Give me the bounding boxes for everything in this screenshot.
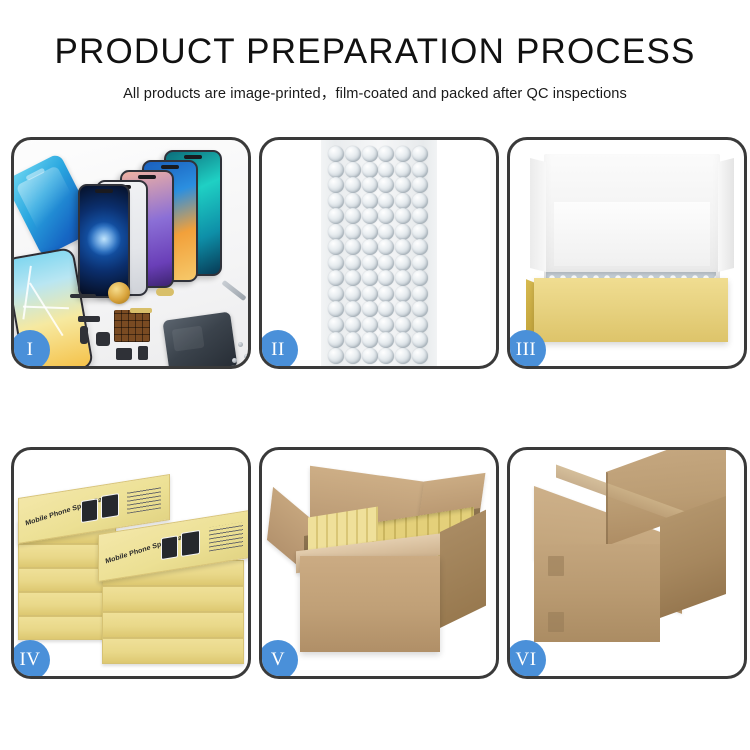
bubble [378, 286, 394, 302]
bubble [328, 332, 344, 348]
phone-back-housing-icon [162, 312, 237, 366]
bubble [345, 162, 361, 178]
retail-box-body [102, 586, 244, 612]
bubble [328, 224, 344, 240]
box-print-spec-lines [209, 522, 243, 551]
bubble [378, 162, 394, 178]
crack-line [29, 283, 63, 336]
bubble [395, 286, 411, 302]
bubble [362, 286, 378, 302]
bubble [345, 193, 361, 209]
bubble [362, 317, 378, 333]
step-5-badge: V [259, 640, 298, 679]
bubble [378, 146, 394, 162]
bubble [412, 286, 428, 302]
bracket-part-icon [78, 316, 100, 322]
bubble [345, 348, 361, 364]
step-6-illustration [510, 450, 744, 676]
crack-line [22, 266, 31, 320]
bubble [328, 146, 344, 162]
bubble [378, 255, 394, 271]
bubble [362, 193, 378, 209]
bubble [378, 177, 394, 193]
screw-part-icon [238, 342, 243, 347]
bubble [412, 177, 428, 193]
flex-cable-part-icon [130, 308, 152, 313]
bubble [395, 301, 411, 317]
bubble [412, 317, 428, 333]
step-4-illustration: Mobile Phone Spare Parts Mobile Phone Sp… [14, 450, 248, 676]
bubble [395, 255, 411, 271]
bubble [412, 332, 428, 348]
bubble [328, 162, 344, 178]
page-header: PRODUCT PREPARATION PROCESS All products… [0, 0, 750, 103]
film-notch [25, 167, 45, 181]
process-step-5: V [259, 447, 499, 679]
bubble [412, 239, 428, 255]
box-print-phone-icon [181, 530, 200, 557]
bubble [378, 224, 394, 240]
retail-box-stack: Mobile Phone Spare Parts Mobile Phone Sp… [16, 464, 248, 676]
bubble [345, 224, 361, 240]
step-6-badge: VI [507, 640, 546, 679]
step-4-badge: IV [11, 640, 50, 679]
bubble [345, 332, 361, 348]
connector-part-icon [138, 346, 148, 360]
vibrator-part-icon [116, 348, 132, 360]
bubble [362, 301, 378, 317]
bubble [328, 348, 344, 364]
bubble [362, 208, 378, 224]
phone-fan-group [78, 150, 248, 280]
bubble [412, 348, 428, 364]
retail-box-label: Mobile Phone Spare Parts [105, 532, 191, 566]
bubble [345, 255, 361, 271]
bubble [395, 162, 411, 178]
process-step-1: I [11, 137, 251, 369]
phone-notch [138, 175, 156, 179]
phone-wallpaper-glow [87, 222, 121, 256]
bubble [362, 146, 378, 162]
bubble [345, 177, 361, 193]
bubble [328, 270, 344, 286]
bubble [412, 255, 428, 271]
retail-box-body [102, 612, 244, 638]
sim-tray-part-icon [80, 326, 88, 344]
bubble [395, 317, 411, 333]
flex-cable-part-icon [156, 288, 174, 296]
bubble [395, 270, 411, 286]
bubble [412, 193, 428, 209]
bubble [395, 193, 411, 209]
bubble [378, 270, 394, 286]
bubble-wrap-pattern [329, 146, 429, 366]
bubble [395, 146, 411, 162]
phone-notch [95, 189, 113, 193]
carton-handle-cutout [548, 612, 564, 632]
speaker-coil-part-icon [108, 282, 130, 304]
chip-array-part-icon [114, 310, 150, 342]
bubble [378, 348, 394, 364]
tweezers-tool-icon [221, 280, 246, 301]
step-2-illustration [262, 140, 496, 366]
bubble [328, 193, 344, 209]
bubble [395, 239, 411, 255]
screw-part-icon [244, 354, 248, 359]
camera-module-part-icon [96, 332, 110, 346]
bubble [378, 239, 394, 255]
bubble [362, 270, 378, 286]
bubble [328, 177, 344, 193]
box-print-phone-icon [81, 498, 98, 523]
carton-side-panel [440, 510, 486, 628]
earpiece-mesh-part-icon [70, 294, 96, 298]
bubble [328, 255, 344, 271]
bubble [362, 255, 378, 271]
step-2-badge: II [259, 330, 298, 369]
bubble [395, 208, 411, 224]
step-3-illustration [510, 140, 744, 366]
spare-parts-group [70, 280, 248, 366]
bubble [412, 162, 428, 178]
bubble [412, 224, 428, 240]
process-step-3: III [507, 137, 747, 369]
phone-notch [161, 165, 179, 169]
bubble [345, 270, 361, 286]
page-title: PRODUCT PREPARATION PROCESS [0, 34, 750, 71]
bubble [395, 224, 411, 240]
carton-front-panel [300, 556, 440, 652]
bubble [412, 208, 428, 224]
step-3-badge: III [507, 330, 546, 369]
bubble [378, 193, 394, 209]
bubble [378, 317, 394, 333]
bubble [328, 208, 344, 224]
bubble [412, 270, 428, 286]
bubble [345, 286, 361, 302]
process-step-6: VI [507, 447, 747, 679]
bubble [345, 239, 361, 255]
bubble [395, 348, 411, 364]
page-subtitle: All products are image-printed，film-coat… [0, 82, 750, 103]
box-print-spec-lines [127, 486, 161, 513]
bubble [362, 239, 378, 255]
bubble [328, 286, 344, 302]
screw-part-icon [232, 358, 237, 363]
step-1-badge: I [11, 330, 50, 369]
bubble [345, 317, 361, 333]
bubble [362, 177, 378, 193]
box-print-phone-icon [161, 535, 178, 560]
bubble [362, 348, 378, 364]
bubble [362, 162, 378, 178]
bubble [378, 332, 394, 348]
process-step-2: II [259, 137, 499, 369]
bubble [345, 208, 361, 224]
bubble [395, 332, 411, 348]
carton-top-seam [606, 472, 608, 551]
process-step-4: Mobile Phone Spare Parts Mobile Phone Sp… [11, 447, 251, 679]
step-1-illustration [14, 140, 248, 366]
bubble [362, 332, 378, 348]
bubble [328, 317, 344, 333]
retail-box-body [102, 638, 244, 664]
bubble [378, 301, 394, 317]
foam-insert [554, 202, 710, 266]
step-5-illustration [262, 450, 496, 676]
bubble [395, 177, 411, 193]
bubble [328, 301, 344, 317]
phone-notch [184, 155, 202, 159]
box-print-phone-icon [101, 493, 119, 519]
process-step-grid: I II [11, 137, 741, 679]
bubble [412, 301, 428, 317]
bubble [362, 224, 378, 240]
bubble [345, 301, 361, 317]
bubble [328, 239, 344, 255]
bubble [378, 208, 394, 224]
inner-box-base [534, 278, 728, 342]
bubble [345, 146, 361, 162]
retail-box-label: Mobile Phone Spare Parts [25, 494, 111, 528]
carton-handle-cutout [548, 556, 564, 576]
bubble [412, 146, 428, 162]
